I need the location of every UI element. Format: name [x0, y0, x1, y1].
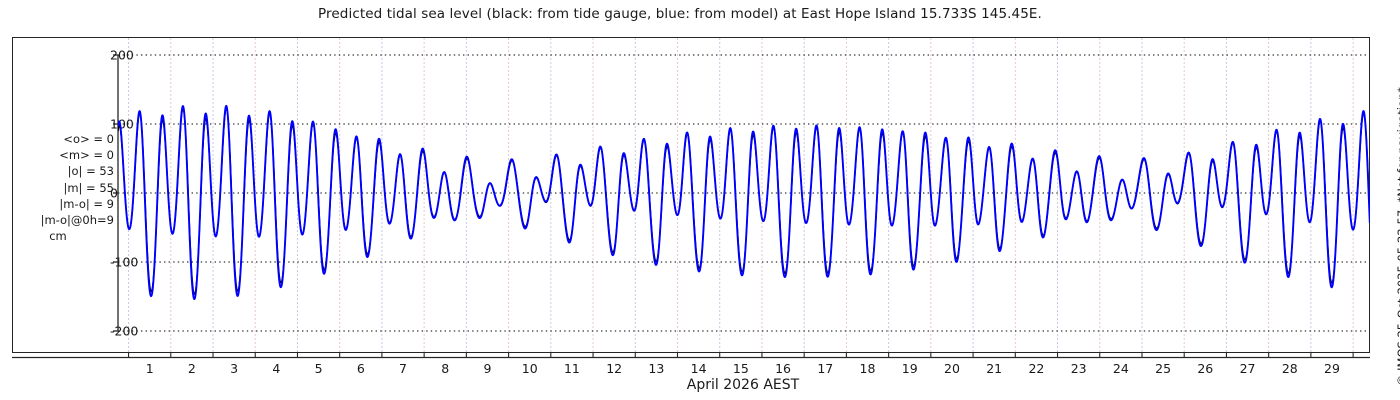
x-axis-tick-label: 7	[399, 361, 407, 376]
x-axis-tick-label: 23	[1071, 361, 1087, 376]
vertical-gridlines	[129, 38, 1354, 352]
tidal-chart-figure: Predicted tidal sea level (black: from t…	[0, 0, 1400, 400]
x-axis-tick-label: 8	[441, 361, 449, 376]
x-axis-tick-label: 21	[986, 361, 1002, 376]
x-axis-tick-label: 4	[272, 361, 280, 376]
x-axis-tick-label: 20	[944, 361, 960, 376]
x-axis-tick-label: 18	[860, 361, 876, 376]
y-axis-tick-label: -100	[110, 255, 138, 270]
x-axis-tick-label: 10	[522, 361, 538, 376]
y-axis-tick-label: 0	[110, 186, 118, 201]
x-axis-tick-label: 24	[1113, 361, 1129, 376]
x-axis-tick-label: 17	[817, 361, 833, 376]
x-axis-tick-label: 26	[1197, 361, 1213, 376]
x-axis-ticks: 1234567891011121314151617181920212223242…	[129, 352, 1354, 376]
x-axis-tick-label: 11	[564, 361, 580, 376]
x-axis-tick-label: 5	[315, 361, 323, 376]
plot-canvas: 2001000-100-200 123456789101112131415161…	[0, 0, 1400, 400]
x-axis-tick-label: 12	[606, 361, 622, 376]
x-axis-tick-label: 3	[230, 361, 238, 376]
x-axis-tick-label: 1	[146, 361, 154, 376]
x-axis-tick-label: 22	[1028, 361, 1044, 376]
x-axis-tick-label: 6	[357, 361, 365, 376]
x-axis-tick-label: 27	[1240, 361, 1256, 376]
x-axis-tick-label: 28	[1282, 361, 1298, 376]
x-axis-tick-label: 29	[1324, 361, 1340, 376]
y-axis-tick-label: 200	[110, 48, 134, 63]
x-axis-tick-label: 2	[188, 361, 196, 376]
x-axis-tick-label: 15	[733, 361, 749, 376]
x-axis-tick-label: 13	[648, 361, 664, 376]
series-line-model	[118, 106, 1370, 299]
x-axis-tick-label: 25	[1155, 361, 1171, 376]
x-axis-tick-label: 16	[775, 361, 791, 376]
copyright-credit: © IMOS 25-Oct-2025 05:22:57. *Not for na…	[1379, 0, 1400, 400]
x-axis-tick-label: 14	[691, 361, 707, 376]
x-axis-tick-label: 9	[484, 361, 492, 376]
x-axis-title: April 2026 AEST	[118, 377, 1368, 393]
x-axis-tick-label: 19	[902, 361, 918, 376]
credit-label: © IMOS 25-Oct-2025 05:22:57. *Not for na…	[1395, 87, 1400, 386]
y-axis-tick-label: -200	[110, 324, 138, 339]
y-axis-tick-label: 100	[110, 117, 134, 132]
